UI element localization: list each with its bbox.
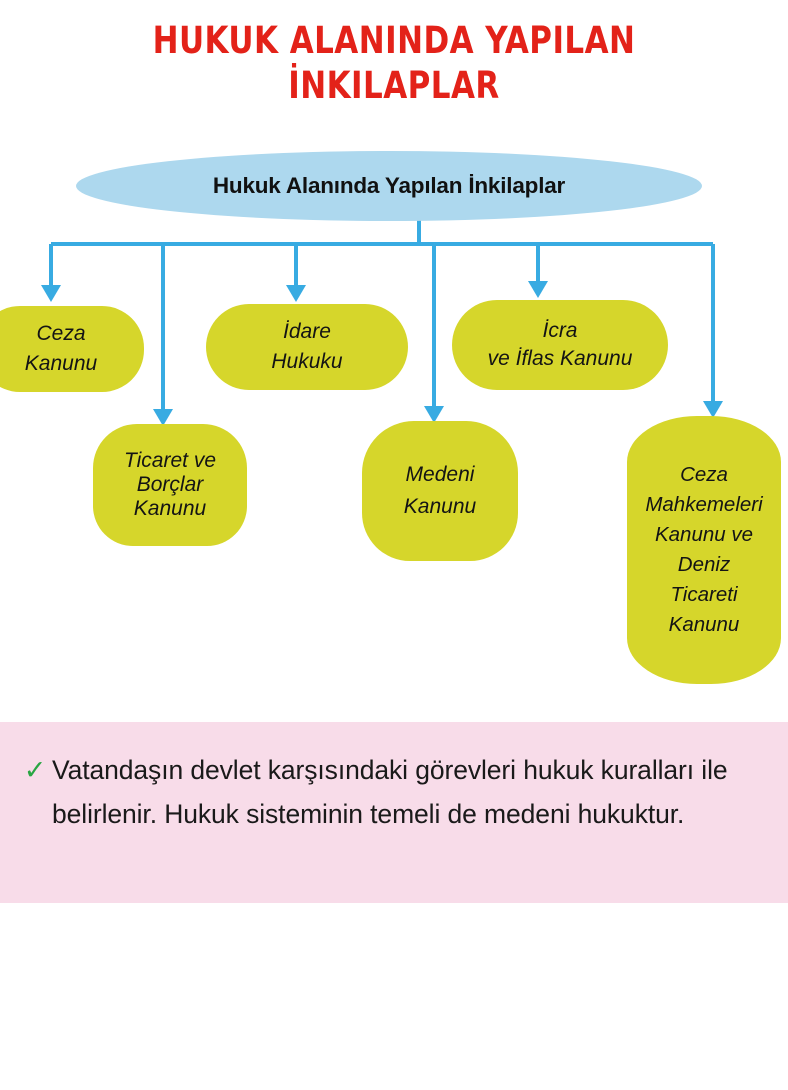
diagram-root-node: Hukuk Alanında Yapılan İnkilaplar (76, 151, 702, 221)
check-icon: ✓ (18, 748, 52, 792)
arrowhead-1 (41, 285, 61, 302)
diagram-node-idare-hukuku: İdareHukuku (206, 304, 408, 390)
diagram-node-label: CezaMahkemeleriKanunu veDenizTicaretiKan… (639, 460, 768, 640)
arrowhead-3 (286, 285, 306, 302)
hierarchy-diagram: Hukuk Alanında Yapılan İnkilaplar CezaKa… (0, 0, 788, 712)
diagram-node-label: CezaKanunu (19, 319, 103, 379)
diagram-node-icra-ve-iflas-kanunu: İcrave İflas Kanunu (452, 300, 668, 390)
arrowhead-5 (528, 281, 548, 298)
diagram-node-label: MedeniKanunu (398, 459, 482, 523)
note-callout: ✓ Vatandaşın devlet karşısındaki görevle… (0, 722, 788, 903)
diagram-node-label: Ticaret veBorçlarKanunu (118, 449, 222, 521)
diagram-node-ceza-kanunu: CezaKanunu (0, 306, 144, 392)
diagram-node-label: İcrave İflas Kanunu (482, 317, 639, 373)
diagram-node-ceza-mahkemeleri-kanunu: CezaMahkemeleriKanunu veDenizTicaretiKan… (627, 416, 781, 684)
diagram-node-medeni-kanunu: MedeniKanunu (362, 421, 518, 561)
note-text: Vatandaşın devlet karşısındaki görevleri… (52, 748, 748, 836)
diagram-root-label: Hukuk Alanında Yapılan İnkilaplar (213, 173, 565, 199)
diagram-node-ticaret-ve-borclar-kanunu: Ticaret veBorçlarKanunu (93, 424, 247, 546)
diagram-node-label: İdareHukuku (265, 317, 348, 377)
